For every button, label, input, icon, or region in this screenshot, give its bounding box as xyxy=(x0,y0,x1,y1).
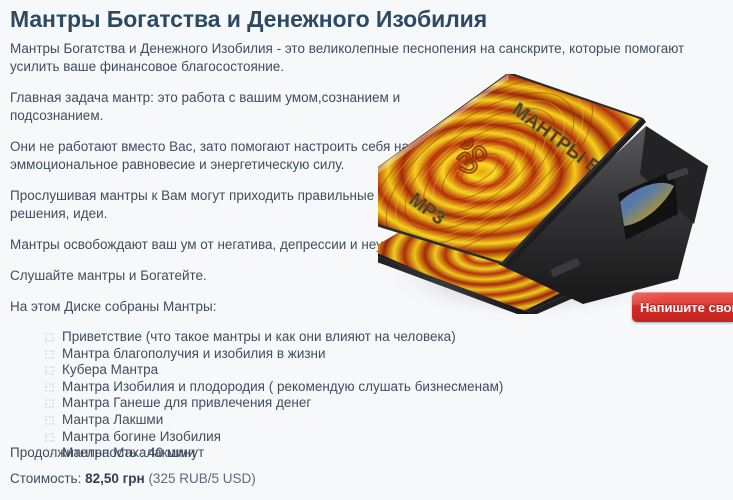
duration-info: Продолжительность : 40 минут xyxy=(10,444,510,462)
list-item: Мантра Изобилия и плодородия ( рекоменду… xyxy=(45,379,545,396)
paragraph-listen: Слушайте мантры и Богатейте. xyxy=(10,267,440,285)
paragraph-intro: Мантры Богатства и Денежного Изобилия - … xyxy=(10,40,722,76)
product-description: Мантры Богатства и Денежного Изобилия - … xyxy=(10,40,723,462)
bullet-grid-icon xyxy=(45,416,54,425)
paragraph-answers: Прослушивая мантры к Вам могут приходить… xyxy=(10,187,440,223)
list-item-label: Мантра богине Изобилия xyxy=(62,429,221,444)
paragraph-free-mind: Мантры освобождают ваш ум от негатива, д… xyxy=(10,236,440,254)
price-row: Стоимость: 82,50 грн (325 RUB/5 USD) xyxy=(10,470,510,488)
duration-label: Продолжительность : 40 минут xyxy=(10,444,510,462)
list-item-label: Мантра Ганеше для привлечения денег xyxy=(62,395,311,410)
bullet-grid-icon xyxy=(45,383,54,392)
bullet-grid-icon xyxy=(45,433,54,442)
paragraph-balance: Они не работают вместо Вас, зато помогаю… xyxy=(10,138,440,174)
bullet-grid-icon xyxy=(45,333,54,342)
list-item: Приветствие (что такое мантры и как они … xyxy=(45,329,545,346)
list-item: Кубера Мантра xyxy=(45,362,545,379)
list-item-label: Приветствие (что такое мантры и как они … xyxy=(62,329,456,344)
list-item: Мантра богине Изобилия xyxy=(45,429,545,446)
list-item-label: Мантра Лакшми xyxy=(62,412,163,427)
price-info: Стоимость: 82,50 грн (325 RUB/5 USD) xyxy=(10,470,510,488)
product-page: Мантры Богатства и Денежного Изобилия Ма… xyxy=(0,0,733,500)
paragraph-task: Главная задача мантр: это работа с вашим… xyxy=(10,89,430,125)
mantra-track-list: Приветствие (что такое мантры и как они … xyxy=(10,329,545,462)
write-your-review-button[interactable]: Напишите свой xyxy=(632,292,733,322)
list-item: Мантра Лакшми xyxy=(45,412,545,429)
paragraph-disc-intro: На этом Диске собраны Мантры: xyxy=(10,298,440,316)
list-item: Мантра Ганеше для привлечения денег xyxy=(45,395,545,412)
list-item-label: Кубера Мантра xyxy=(62,362,158,377)
list-item: Мантра благополучия и изобилия в жизни xyxy=(45,346,545,363)
bullet-grid-icon xyxy=(45,366,54,375)
price-alt-currencies: (325 RUB/5 USD) xyxy=(148,471,255,486)
page-title: Мантры Богатства и Денежного Изобилия xyxy=(10,4,487,34)
list-item-label: Мантра Изобилия и плодородия ( рекоменду… xyxy=(62,379,503,394)
price-amount: 82,50 грн xyxy=(85,471,145,486)
bullet-grid-icon xyxy=(45,350,54,359)
bullet-grid-icon xyxy=(45,399,54,408)
list-item-label: Мантра благополучия и изобилия в жизни xyxy=(62,346,326,361)
price-label: Стоимость: xyxy=(10,471,81,486)
